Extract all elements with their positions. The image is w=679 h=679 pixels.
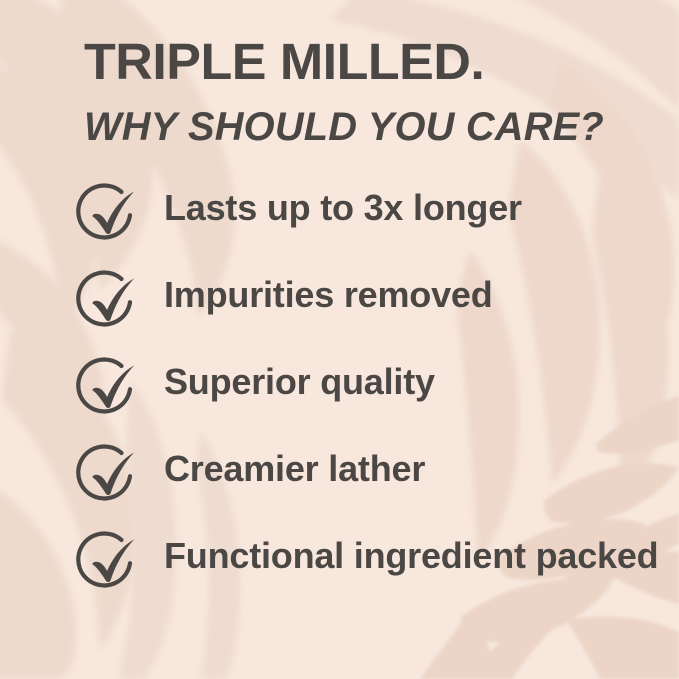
circle-check-icon [76, 271, 140, 333]
list-item: Superior quality [76, 356, 666, 443]
circle-check-icon [76, 358, 140, 420]
list-item: Creamier lather [76, 443, 666, 530]
list-item-label: Impurities removed [164, 269, 666, 316]
list-item-label: Superior quality [164, 356, 666, 403]
circle-check-icon [76, 532, 140, 594]
poster: TRIPLE MILLED. WHY SHOULD YOU CARE? Last… [0, 0, 679, 679]
list-item: Lasts up to 3x longer [76, 182, 666, 269]
circle-check-icon [76, 184, 140, 246]
list-item-label: Functional ingredient packed [164, 530, 666, 577]
headline-block: TRIPLE MILLED. WHY SHOULD YOU CARE? [84, 36, 644, 147]
list-item-label: Creamier lather [164, 443, 666, 490]
list-item: Functional ingredient packed [76, 530, 666, 617]
list-item: Impurities removed [76, 269, 666, 356]
list-item-label: Lasts up to 3x longer [164, 182, 666, 229]
page-subtitle: WHY SHOULD YOU CARE? [84, 107, 641, 147]
page-title: TRIPLE MILLED. [84, 36, 655, 87]
circle-check-icon [76, 445, 140, 507]
benefits-list: Lasts up to 3x longer Impurities removed [76, 182, 666, 617]
